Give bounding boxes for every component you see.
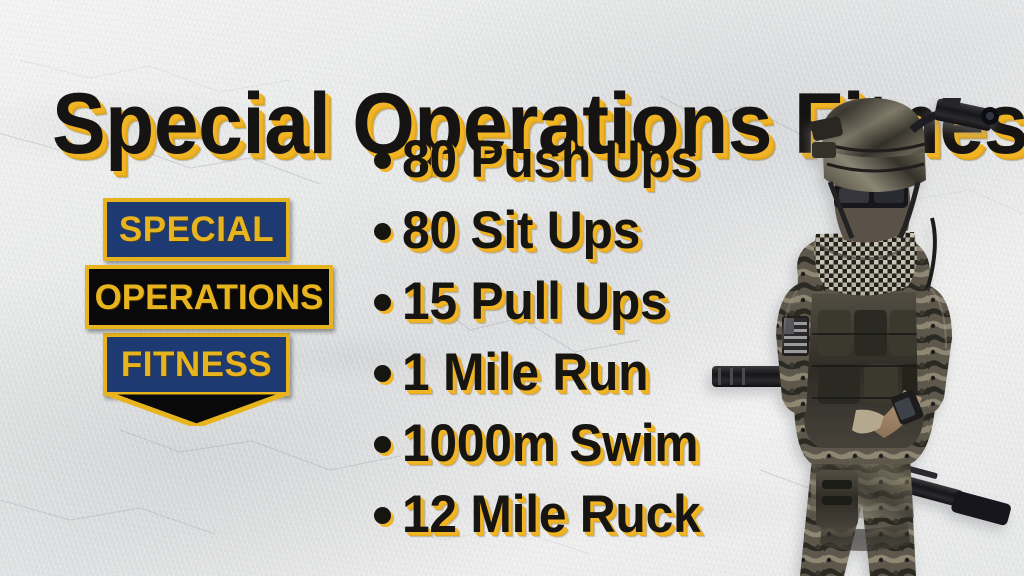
soldier-image: [694, 98, 1024, 576]
list-item-label: 1000m Swim: [402, 417, 698, 470]
requirements-list: 80 Push Ups 80 Sit Ups 15 Pull Ups 1 Mil…: [370, 124, 719, 550]
logo-band-special: SPECIAL: [103, 198, 290, 261]
bullet-dot-icon: [374, 294, 391, 311]
list-item: 15 Pull Ups: [370, 266, 719, 337]
logo-band-fitness: FITNESS: [103, 333, 290, 396]
list-item-label: 12 Mile Ruck: [402, 488, 700, 541]
bullet-dot-icon: [374, 152, 391, 169]
list-item-label: 15 Pull Ups: [402, 275, 667, 328]
list-item: 80 Push Ups: [370, 124, 719, 195]
bullet-dot-icon: [374, 507, 391, 524]
list-item-label: 80 Sit Ups: [402, 204, 640, 257]
bullet-dot-icon: [374, 436, 391, 453]
poster-canvas: Special Operations Fitness Test SPECIAL …: [0, 0, 1024, 576]
list-item: 1 Mile Run: [370, 337, 719, 408]
night-vision-mount-icon: [912, 98, 999, 132]
list-item-label: 1 Mile Run: [402, 346, 648, 399]
bullet-dot-icon: [374, 365, 391, 382]
soldier-figure-icon: [694, 98, 1024, 576]
logo-band-operations-label: OPERATIONS: [95, 280, 324, 315]
logo-band-fitness-label: FITNESS: [121, 347, 272, 382]
logo-band-operations: OPERATIONS: [85, 265, 333, 329]
list-item: 1000m Swim: [370, 408, 719, 479]
logo-band-special-label: SPECIAL: [119, 212, 274, 247]
logo-chevron-down-icon: [103, 392, 290, 426]
list-item: 80 Sit Ups: [370, 195, 719, 266]
list-item-label: 80 Push Ups: [402, 133, 698, 186]
list-item: 12 Mile Ruck: [370, 479, 719, 550]
bullet-dot-icon: [374, 223, 391, 240]
logo-badge: SPECIAL OPERATIONS FITNESS: [80, 196, 338, 428]
